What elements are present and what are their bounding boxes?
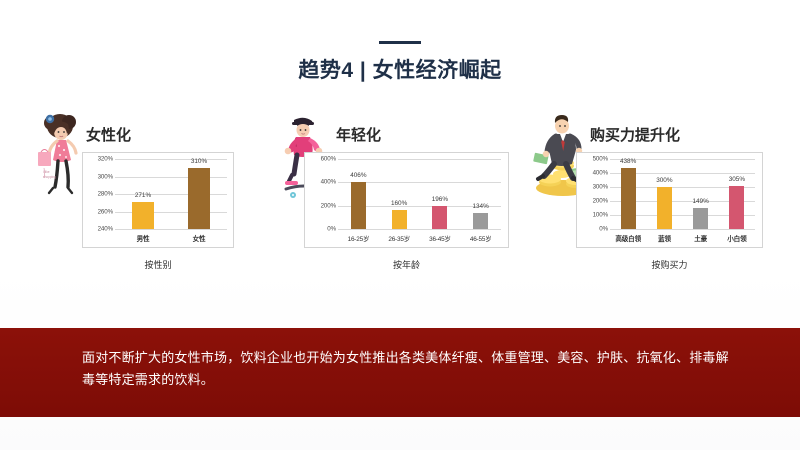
chart-panel-purchasing-power: 购买力提升化 0% 100% 200% 300% 400% 500% [528, 112, 786, 307]
y-tick: 400% [321, 179, 336, 186]
y-tick: 280% [98, 191, 113, 198]
grid-area-gender: 271% 310% [115, 159, 227, 229]
y-tick: 0% [327, 226, 336, 233]
bar-cell: 134% [460, 159, 501, 229]
x-tick: 26-35岁 [379, 234, 420, 243]
x-axis-age: 16-25岁 26-35岁 36-45岁 46-55岁 [338, 231, 501, 245]
page-title: 趋势4 | 女性经济崛起 [0, 54, 800, 84]
x-tick: 46-55岁 [460, 234, 501, 243]
bar-age-26-35[interactable]: 160% [392, 210, 407, 229]
bar-value-label: 406% [350, 172, 366, 179]
bar-blue-collar[interactable]: 300% [657, 187, 672, 229]
charts-row: I like shopping 女性化 240% 260% 280% 300% … [0, 112, 800, 312]
bar-value-label: 160% [391, 200, 407, 207]
bar-cell: 438% [610, 159, 646, 229]
bar-cell: 271% [115, 159, 171, 229]
chart-panel-gender: I like shopping 女性化 240% 260% 280% 300% … [26, 112, 274, 307]
y-tick: 300% [593, 184, 608, 191]
panel-header: 购买力提升化 [528, 112, 786, 152]
panel-caption-age: 按年龄 [304, 258, 509, 271]
y-tick: 500% [593, 156, 608, 163]
title-divider-rule [379, 41, 421, 44]
bar-cell: 406% [338, 159, 379, 229]
y-tick: 0% [599, 226, 608, 233]
y-tick: 200% [593, 198, 608, 205]
y-tick: 600% [321, 156, 336, 163]
panel-header: I like shopping 女性化 [26, 112, 274, 152]
y-tick: 320% [98, 156, 113, 163]
gridline [610, 229, 755, 230]
bar-male[interactable]: 271% [132, 202, 154, 229]
bar-value-label: 438% [620, 158, 636, 165]
x-tick: 16-25岁 [338, 234, 379, 243]
y-tick: 100% [593, 212, 608, 219]
chart-purchasing-power: 0% 100% 200% 300% 400% 500% [576, 152, 763, 248]
plot-area-age: 0% 200% 400% 600% 406% [305, 153, 508, 247]
summary-banner: 面对不断扩大的女性市场，饮料企业也开始为女性推出各类美体纤瘦、体重管理、美容、护… [0, 328, 800, 417]
x-tick: 女性 [171, 233, 227, 243]
bar-age-46-55[interactable]: 134% [473, 213, 488, 229]
bar-cell: 310% [171, 159, 227, 229]
slide-root: 趋势4 | 女性经济崛起 [0, 0, 800, 450]
y-axis-gender: 240% 260% 280% 300% 320% [86, 159, 113, 229]
bars-gender: 271% 310% [115, 159, 227, 229]
panel-caption-gender: 按性别 [82, 258, 234, 271]
y-tick: 260% [98, 208, 113, 215]
grid-area-age: 406% 160% 196% [338, 159, 501, 229]
x-tick: 高级白领 [610, 233, 646, 243]
bar-value-label: 271% [135, 192, 151, 199]
bars-purchasing-power: 438% 300% 149% [610, 159, 755, 229]
panel-title-age: 年轻化 [336, 124, 381, 145]
bar-cell: 305% [719, 159, 755, 229]
y-axis-purchasing-power: 0% 100% 200% 300% 400% 500% [580, 159, 608, 229]
bar-cell: 160% [379, 159, 420, 229]
chart-panel-age: 年轻化 0% 200% 400% 600% [276, 112, 528, 307]
chart-gender: 240% 260% 280% 300% 320% [82, 152, 234, 248]
plot-area-gender: 240% 260% 280% 300% 320% [83, 153, 233, 247]
y-tick: 300% [98, 173, 113, 180]
x-axis-gender: 男性 女性 [115, 231, 227, 245]
summary-text: 面对不断扩大的女性市场，饮料企业也开始为女性推出各类美体纤瘦、体重管理、美容、护… [82, 347, 732, 392]
bar-age-36-45[interactable]: 196% [432, 206, 447, 229]
bar-junior-white-collar[interactable]: 305% [729, 186, 744, 229]
panel-title-purchasing-power: 购买力提升化 [590, 124, 680, 145]
x-tick: 土豪 [683, 233, 719, 243]
chart-age: 0% 200% 400% 600% 406% [304, 152, 509, 248]
y-tick: 200% [321, 202, 336, 209]
bar-value-label: 300% [656, 177, 672, 184]
svg-text:shopping: shopping [43, 175, 56, 179]
bar-value-label: 310% [191, 158, 207, 165]
bar-value-label: 149% [692, 198, 708, 205]
plot-area-purchasing-power: 0% 100% 200% 300% 400% 500% [577, 153, 762, 247]
y-tick: 400% [593, 170, 608, 177]
panel-caption-purchasing-power: 按购买力 [576, 258, 763, 271]
bars-age: 406% 160% 196% [338, 159, 501, 229]
bar-age-16-25[interactable]: 406% [351, 182, 366, 229]
gridline [115, 229, 227, 230]
bar-value-label: 196% [432, 196, 448, 203]
x-tick: 蓝领 [646, 233, 682, 243]
x-axis-purchasing-power: 高级白领 蓝领 土豪 小白领 [610, 231, 755, 245]
bar-senior-white-collar[interactable]: 438% [621, 168, 636, 229]
x-tick: 小白领 [719, 233, 755, 243]
grid-area-purchasing-power: 438% 300% 149% [610, 159, 755, 229]
x-tick: 男性 [115, 233, 171, 243]
bar-cell: 196% [420, 159, 461, 229]
y-tick: 240% [98, 226, 113, 233]
x-tick: 36-45岁 [420, 234, 461, 243]
shopping-woman-illustration: I like shopping [30, 110, 88, 202]
bar-cell: 300% [646, 159, 682, 229]
bar-tuhao[interactable]: 149% [693, 208, 708, 229]
bar-female[interactable]: 310% [188, 168, 210, 229]
gridline [338, 229, 501, 230]
bar-value-label: 134% [472, 203, 488, 210]
svg-text:I like: I like [43, 170, 50, 174]
panel-title-gender: 女性化 [86, 124, 131, 145]
y-axis-age: 0% 200% 400% 600% [308, 159, 336, 229]
bar-cell: 149% [683, 159, 719, 229]
bar-value-label: 305% [729, 176, 745, 183]
panel-header: 年轻化 [276, 112, 528, 152]
